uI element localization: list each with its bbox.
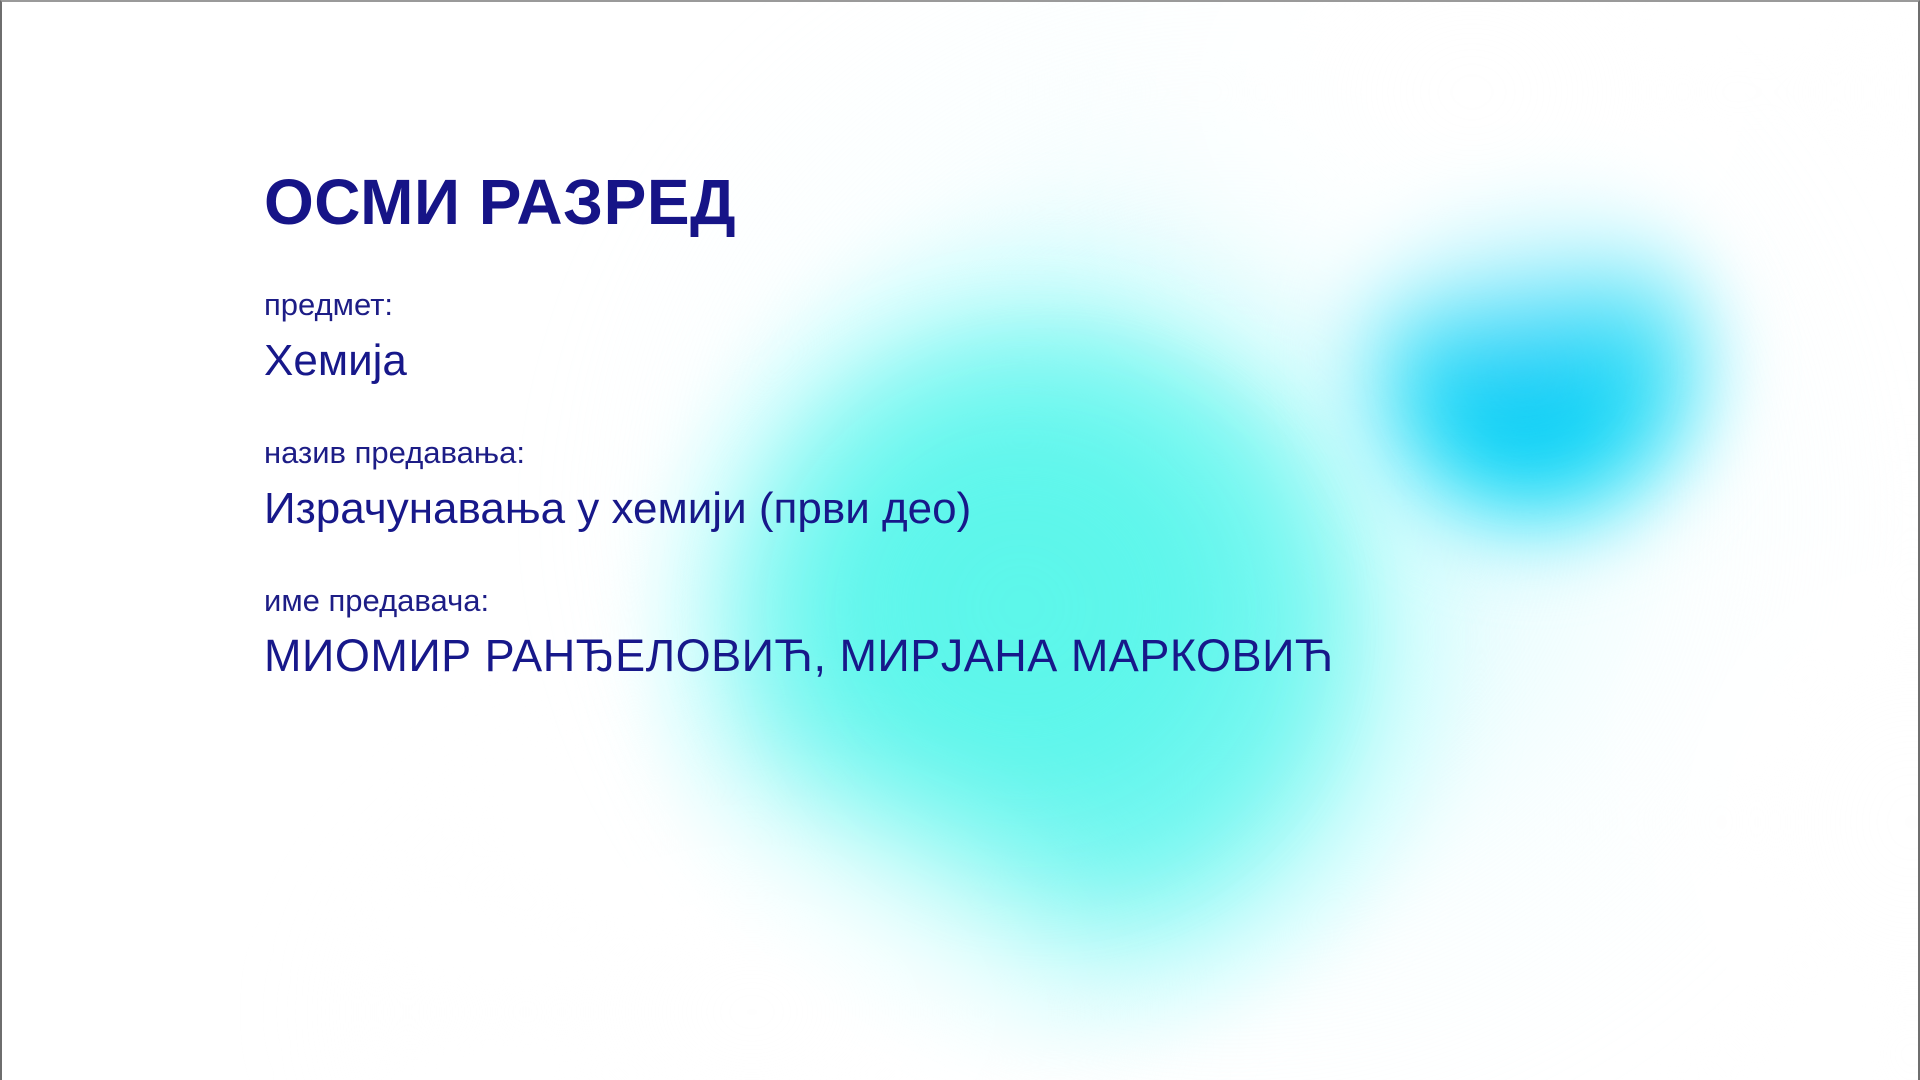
- lesson-title-slide: ОСМИ РАЗРЕД предмет: Хемија назив предав…: [0, 0, 1920, 1080]
- lecturer-name-value: МИОМИР РАНЂЕЛОВИЋ, МИРЈАНА МАРКОВИЋ: [264, 630, 1664, 682]
- page-title: ОСМИ РАЗРЕД: [264, 170, 1664, 234]
- field-spacer-2: [264, 568, 1664, 582]
- field-lecturer-name: име предавача: МИОМИР РАНЂЕЛОВИЋ, МИРЈАН…: [264, 582, 1664, 683]
- subject-value: Хемија: [264, 335, 1664, 386]
- blob-white-veil-bottom-left: [302, 702, 1202, 1080]
- lecture-title-label: назив предавања:: [264, 434, 1664, 473]
- lecture-title-value: Израчунавања у хемији (први део): [264, 483, 1664, 534]
- subject-label: предмет:: [264, 286, 1664, 325]
- field-lecture-title: назив предавања: Израчунавања у хемији (…: [264, 434, 1664, 534]
- field-spacer-1: [264, 420, 1664, 434]
- field-subject: предмет: Хемија: [264, 286, 1664, 386]
- lecturer-name-label: име предавача:: [264, 582, 1664, 621]
- slide-content: ОСМИ РАЗРЕД предмет: Хемија назив предав…: [264, 170, 1664, 683]
